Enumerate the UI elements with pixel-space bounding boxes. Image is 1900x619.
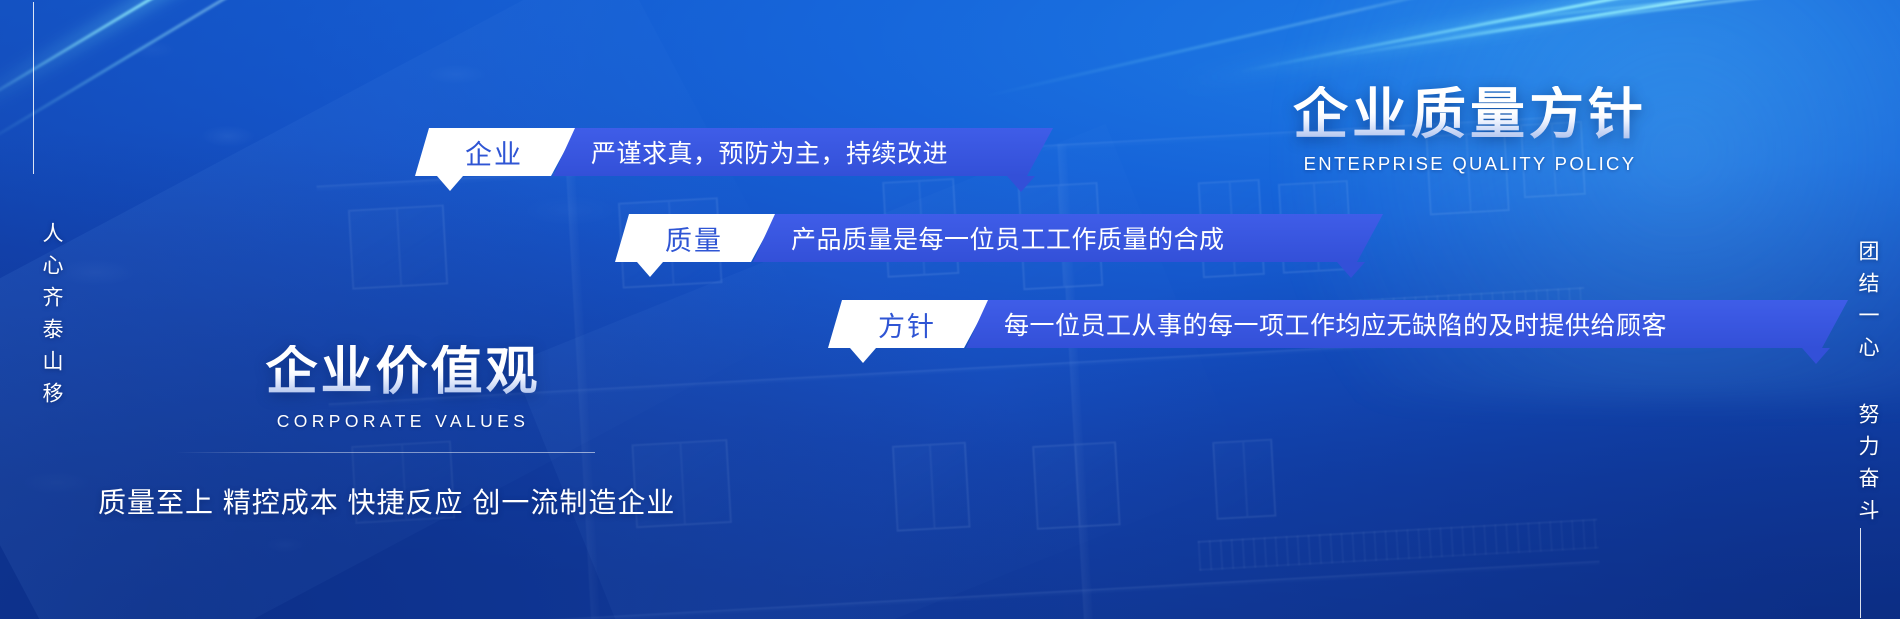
corporate-values-title-en: CORPORATE VALUES (228, 411, 578, 432)
corporate-values-heading: 企业价值观 CORPORATE VALUES (228, 345, 578, 432)
left-divider-line (33, 2, 34, 174)
row-3-chip-label: 方针 (878, 305, 936, 344)
banner-canvas: 人心齐泰山移 团结一心 努力奋斗 企业质量方针 ENTERPRISE QUALI… (0, 0, 1900, 619)
row-2-chip-label: 质量 (665, 219, 723, 258)
row-2-chip: 质量 (615, 214, 777, 262)
corporate-values-tagline: 质量至上 精控成本 快捷反应 创一流制造企业 (98, 481, 675, 521)
quality-policy-title-cn: 企业质量方针 (1255, 86, 1685, 144)
row-1-text: 严谨求真，预防为主，持续改进 (553, 134, 948, 170)
row-3-chip: 方针 (828, 300, 990, 348)
quality-policy-heading: 企业质量方针 ENTERPRISE QUALITY POLICY (1255, 86, 1685, 175)
left-vertical-slogan: 人心齐泰山移 (16, 222, 62, 414)
row-1-bar: 严谨求真，预防为主，持续改进 (553, 128, 1053, 176)
tagline-rule (175, 452, 595, 453)
quality-policy-title-en: ENTERPRISE QUALITY POLICY (1255, 153, 1685, 175)
corporate-values-title-cn: 企业价值观 (228, 345, 578, 400)
row-3-text: 每一位员工从事的每一项工作均应无缺陷的及时提供给顾客 (966, 306, 1667, 342)
right-vertical-slogan: 团结一心 努力奋斗 (1832, 240, 1878, 531)
row-1-chip-label: 企业 (465, 133, 523, 172)
row-3-bar: 每一位员工从事的每一项工作均应无缺陷的及时提供给顾客 (966, 300, 1848, 348)
row-2-bar: 产品质量是每一位员工工作质量的合成 (753, 214, 1383, 262)
right-divider-line (1860, 528, 1861, 618)
row-2-text: 产品质量是每一位员工工作质量的合成 (753, 220, 1225, 256)
row-1-chip: 企业 (415, 128, 577, 176)
